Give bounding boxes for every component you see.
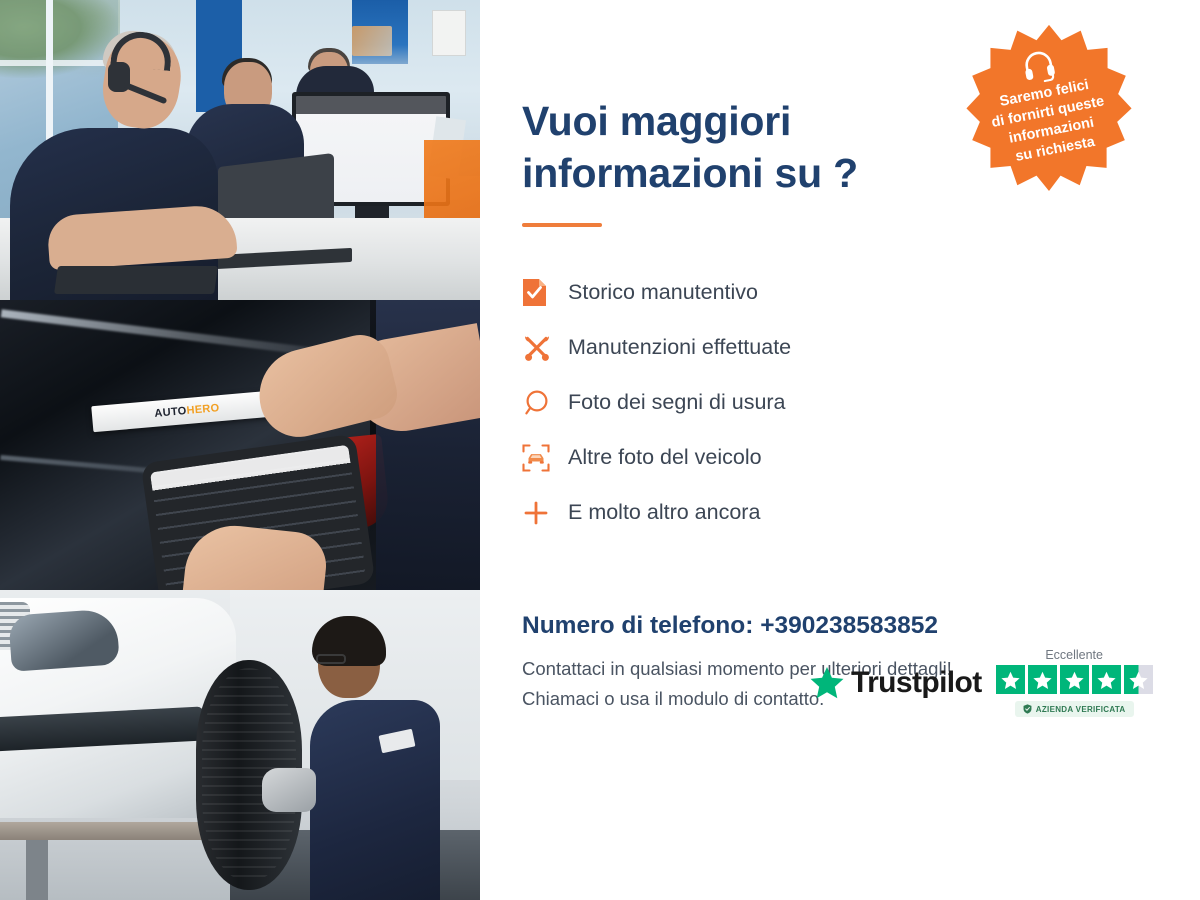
star-filled [1092, 665, 1121, 694]
star-filled [996, 665, 1025, 694]
call-center-agents-photo [0, 0, 480, 300]
plus-icon [522, 499, 568, 527]
foliage-shape [0, 0, 120, 78]
wheel-inspection-photo [0, 590, 480, 900]
ruler-brand-label: AUTOHERO [154, 402, 220, 420]
feature-item-manutenzioni-effettuate: Manutenzioni effettuate [522, 320, 1200, 375]
shield-check-icon [1023, 704, 1032, 714]
photo-column: AUTOHERO [0, 0, 480, 900]
vehicle-inspection-photo: AUTOHERO [0, 300, 480, 590]
crossed-tools-icon [522, 333, 568, 363]
feature-list: Storico manutentivo Manutenzi [522, 265, 1200, 540]
trustpilot-star-icon [810, 666, 844, 699]
trustpilot-stars [996, 665, 1153, 694]
phone-number-line[interactable]: Numero di telefono: +390238583852 [522, 612, 1200, 640]
request-info-badge: Saremo felici di fornirti queste informa… [953, 22, 1145, 214]
badge-text: Saremo felici di fornirti queste informa… [969, 70, 1131, 173]
badge-content: Saremo felici di fornirti queste informa… [936, 5, 1161, 230]
wall-paper-shape [432, 10, 466, 56]
info-banner: AUTOHERO [0, 0, 1200, 900]
ruler-brand-hero: HERO [186, 402, 220, 417]
title-divider [522, 223, 602, 227]
trustpilot-widget[interactable]: Trustpilot Eccellente [810, 648, 1153, 717]
mechanic-glove-shape [262, 768, 316, 812]
feature-label: Altre foto del veicolo [568, 445, 762, 470]
star-filled [1060, 665, 1089, 694]
feature-item-molto-altro: E molto altro ancora [522, 485, 1200, 540]
mechanic-body-shape [310, 700, 440, 900]
mechanic-glasses-shape [316, 654, 346, 664]
verified-company-badge: AZIENDA VERIFICATA [1015, 701, 1134, 717]
feature-item-storico-manutentivo: Storico manutentivo [522, 265, 1200, 320]
ruler-brand-auto: AUTO [154, 405, 187, 420]
car-scan-icon [522, 444, 568, 472]
lift-post-shape [26, 840, 48, 900]
wall-poster-image-shape [352, 26, 392, 56]
content-panel: Vuoi maggiori informazioni su ? Storico … [480, 0, 1200, 900]
feature-label: Storico manutentivo [568, 280, 758, 305]
headset-icon [1019, 46, 1059, 86]
document-check-icon [522, 278, 568, 307]
trustpilot-brand-label: Trustpilot [851, 666, 982, 700]
keyboard-shape [54, 266, 218, 294]
verified-company-label: AZIENDA VERIFICATA [1036, 705, 1126, 714]
trustpilot-rating: Eccellente [996, 648, 1153, 717]
feature-item-foto-segni-usura: Foto dei segni di usura [522, 375, 1200, 430]
page-title: Vuoi maggiori informazioni su ? [522, 96, 952, 199]
feature-label: E molto altro ancora [568, 500, 760, 525]
star-filled [1028, 665, 1057, 694]
magnifier-icon [522, 389, 568, 417]
feature-item-altre-foto-veicolo: Altre foto del veicolo [522, 430, 1200, 485]
feature-label: Foto dei segni di usura [568, 390, 786, 415]
window-frame-shape [0, 60, 118, 66]
trustpilot-rating-label: Eccellente [1045, 648, 1103, 662]
star-half [1124, 665, 1153, 694]
car-headlight-shape [8, 608, 120, 671]
feature-label: Manutenzioni effettuate [568, 335, 791, 360]
trustpilot-logo: Trustpilot [810, 666, 982, 700]
